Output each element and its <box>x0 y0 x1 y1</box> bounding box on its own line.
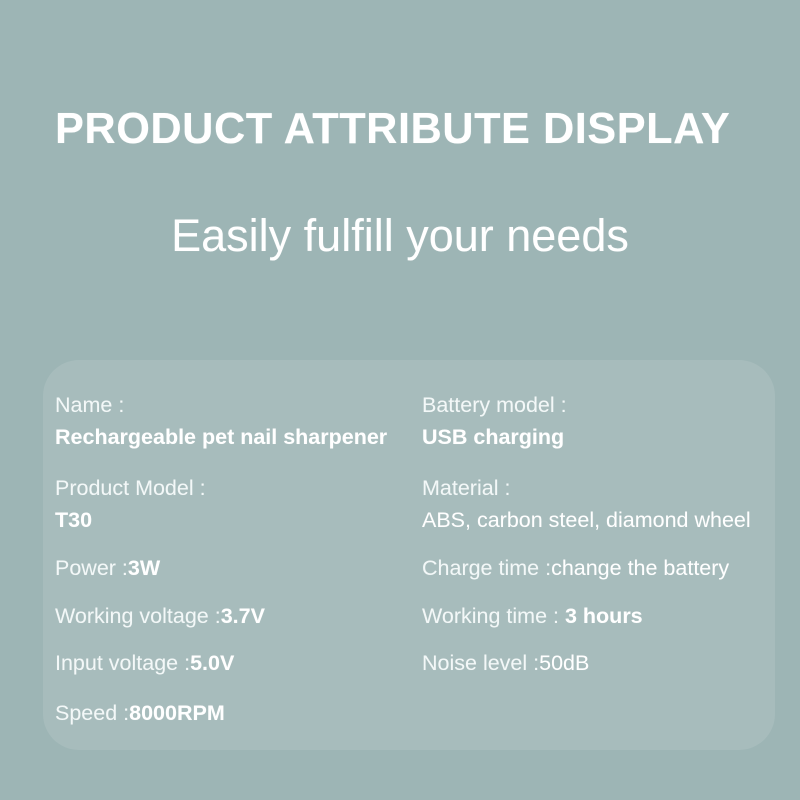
attribute-value-name: Rechargeable pet nail sharpener <box>55 424 387 452</box>
attribute-row-power: Power :3W <box>55 555 160 583</box>
attribute-row-working-voltage: Working voltage :3.7V <box>55 603 265 631</box>
attribute-row-speed: Speed :8000RPM <box>55 700 225 728</box>
attribute-label-product-model: Product Model : <box>55 475 206 503</box>
attribute-value-charge-time: change the battery <box>551 556 729 580</box>
attribute-row-noise-level: Noise level :50dB <box>422 650 589 678</box>
attribute-value-material: ABS, carbon steel, diamond wheel <box>422 507 751 535</box>
attribute-label-battery-model: Battery model : <box>422 392 567 420</box>
attribute-label-charge-time: Charge time : <box>422 556 551 580</box>
attribute-value-working-time: 3 hours <box>565 604 643 628</box>
attribute-value-input-voltage: 5.0V <box>190 651 234 675</box>
product-attribute-page: PRODUCT ATTRIBUTE DISPLAY Easily fulfill… <box>0 0 800 800</box>
attribute-row-name: Name : Rechargeable pet nail sharpener <box>55 392 387 451</box>
page-title: PRODUCT ATTRIBUTE DISPLAY <box>55 104 730 154</box>
attribute-value-noise-level: 50dB <box>539 651 589 675</box>
attribute-value-power: 3W <box>128 556 160 580</box>
attribute-label-material: Material : <box>422 475 751 503</box>
attribute-label-name: Name : <box>55 392 387 420</box>
attribute-label-power: Power : <box>55 556 128 580</box>
attributes-left-column: Name : Rechargeable pet nail sharpener P… <box>55 360 423 750</box>
attribute-label-speed: Speed : <box>55 701 129 725</box>
attributes-right-column: Battery model : USB charging Material : … <box>422 360 772 750</box>
attribute-row-battery-model: Battery model : USB charging <box>422 392 567 451</box>
attribute-label-working-time: Working time : <box>422 604 559 628</box>
attribute-label-working-voltage: Working voltage : <box>55 604 221 628</box>
attribute-value-product-model: T30 <box>55 507 206 535</box>
attribute-value-working-voltage: 3.7V <box>221 604 265 628</box>
attribute-row-charge-time: Charge time :change the battery <box>422 555 729 583</box>
attribute-label-noise-level: Noise level : <box>422 651 539 675</box>
attribute-row-input-voltage: Input voltage :5.0V <box>55 650 234 678</box>
attribute-value-battery-model: USB charging <box>422 424 567 452</box>
attribute-row-product-model: Product Model : T30 <box>55 475 206 534</box>
attribute-row-working-time: Working time : 3 hours <box>422 603 643 631</box>
attribute-row-material: Material : ABS, carbon steel, diamond wh… <box>422 475 751 534</box>
page-subtitle: Easily fulfill your needs <box>0 210 800 262</box>
attribute-label-input-voltage: Input voltage : <box>55 651 190 675</box>
attributes-columns: Name : Rechargeable pet nail sharpener P… <box>43 360 775 750</box>
attribute-value-speed: 8000RPM <box>129 701 225 725</box>
attributes-card: Name : Rechargeable pet nail sharpener P… <box>43 360 775 750</box>
